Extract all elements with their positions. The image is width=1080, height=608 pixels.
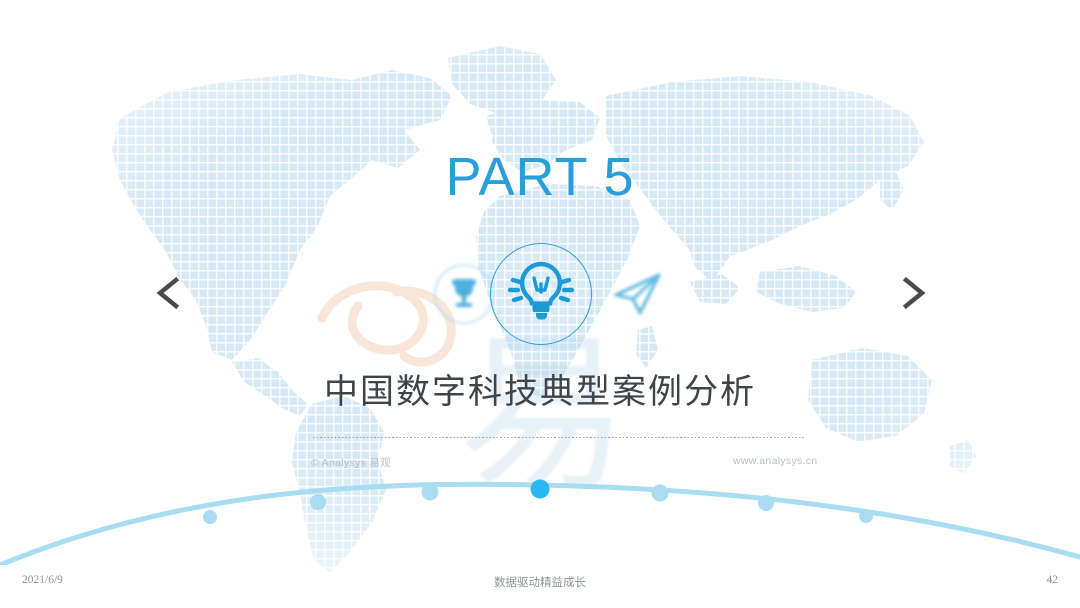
previous-slide-button[interactable] <box>146 270 192 316</box>
chevron-left-icon <box>154 275 184 311</box>
paper-plane-icon <box>587 243 689 345</box>
chevron-right-icon <box>898 275 928 311</box>
copyright-text: © Analysys 易观 <box>311 455 391 470</box>
footer-tagline: 数据驱动精益成长 <box>0 574 1080 590</box>
dotted-divider <box>313 437 805 438</box>
presentation-slide: 易 PART 5 <box>0 0 1080 608</box>
next-slide-button[interactable] <box>890 270 936 316</box>
footer-page-number: 42 <box>1047 574 1059 586</box>
slide-footer: 2021/6/9 数据驱动精益成长 42 <box>0 562 1080 608</box>
part-heading: PART 5 <box>0 150 1080 204</box>
lightbulb-icon <box>490 243 592 345</box>
slide-title: 中国数字科技典型案例分析 <box>0 372 1080 413</box>
website-text: www.analysys.cn <box>733 455 817 467</box>
